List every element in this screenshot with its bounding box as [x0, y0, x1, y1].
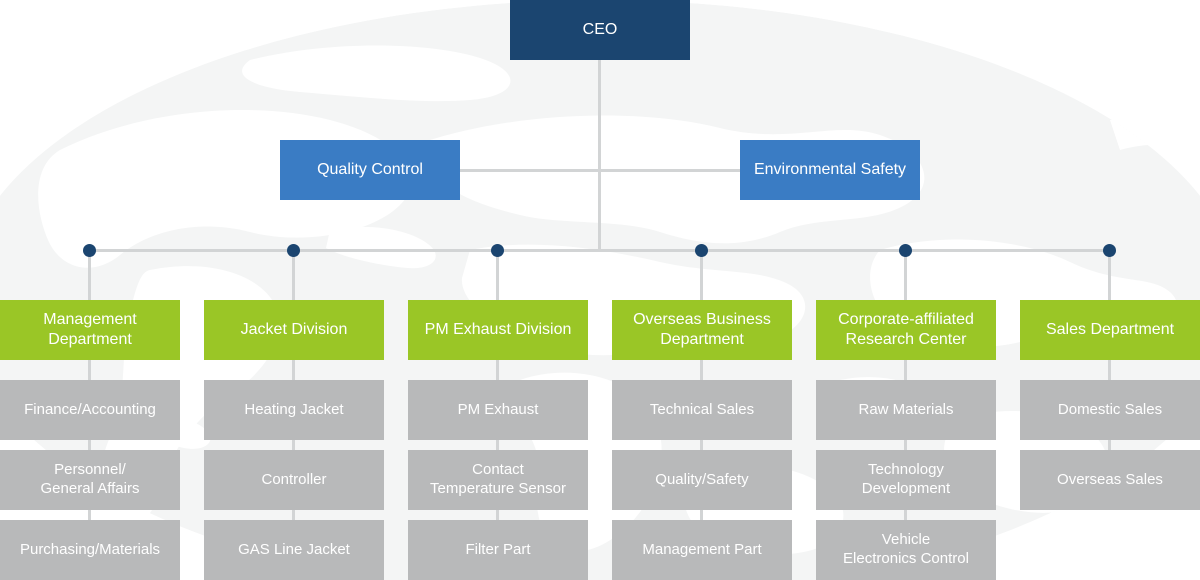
node-environmental-safety-label: Environmental Safety	[754, 160, 906, 180]
node-finance-accounting[interactable]: Finance/Accounting	[0, 380, 180, 440]
node-heating-jacket[interactable]: Heating Jacket	[204, 380, 384, 440]
node-technical-sales[interactable]: Technical Sales	[612, 380, 792, 440]
node-jacket-division[interactable]: Jacket Division	[204, 300, 384, 360]
node-vehicle-electronics-control[interactable]: Vehicle Electronics Control	[816, 520, 996, 580]
node-personnel-general-affairs-label: Personnel/ General Affairs	[41, 461, 140, 499]
connector-drop-management-department	[88, 250, 91, 300]
node-environmental-safety[interactable]: Environmental Safety	[740, 140, 920, 200]
node-pm-exhaust[interactable]: PM Exhaust	[408, 380, 588, 440]
node-gas-line-jacket[interactable]: GAS Line Jacket	[204, 520, 384, 580]
connector-drop-pm-exhaust-division	[496, 250, 499, 300]
node-domestic-sales-label: Domestic Sales	[1058, 401, 1162, 420]
node-quality-safety[interactable]: Quality/Safety	[612, 450, 792, 510]
node-dot-jacket-division	[287, 244, 300, 257]
node-dot-sales-department	[1103, 244, 1116, 257]
node-heating-jacket-label: Heating Jacket	[244, 401, 343, 420]
node-management-part[interactable]: Management Part	[612, 520, 792, 580]
node-management-part-label: Management Part	[642, 541, 761, 560]
node-quality-safety-label: Quality/Safety	[655, 471, 748, 490]
node-ceo[interactable]: CEO	[510, 0, 690, 60]
node-quality-control[interactable]: Quality Control	[280, 140, 460, 200]
node-contact-temperature-sensor-label: Contact Temperature Sensor	[430, 461, 566, 499]
node-gas-line-jacket-label: GAS Line Jacket	[238, 541, 350, 560]
node-overseas-business-department-label: Overseas Business Department	[633, 310, 771, 350]
connector-drop-corporate-affiliated-research-center	[904, 250, 907, 300]
node-dot-pm-exhaust-division	[491, 244, 504, 257]
connector-quality-control	[460, 169, 600, 172]
node-jacket-division-label: Jacket Division	[241, 320, 348, 340]
node-vehicle-electronics-control-label: Vehicle Electronics Control	[843, 531, 969, 569]
node-filter-part[interactable]: Filter Part	[408, 520, 588, 580]
node-ceo-label: CEO	[583, 20, 618, 40]
org-chart: CEO Quality Control Environmental Safety…	[0, 0, 1200, 580]
node-contact-temperature-sensor[interactable]: Contact Temperature Sensor	[408, 450, 588, 510]
node-overseas-business-department[interactable]: Overseas Business Department	[612, 300, 792, 360]
node-technical-sales-label: Technical Sales	[650, 401, 754, 420]
node-corporate-affiliated-research-center[interactable]: Corporate-affiliated Research Center	[816, 300, 996, 360]
node-personnel-general-affairs[interactable]: Personnel/ General Affairs	[0, 450, 180, 510]
node-dot-management-department	[83, 244, 96, 257]
node-raw-materials-label: Raw Materials	[858, 401, 953, 420]
node-management-department-label: Management Department	[43, 310, 136, 350]
connector-drop-sales-department	[1108, 250, 1111, 300]
node-pm-exhaust-division[interactable]: PM Exhaust Division	[408, 300, 588, 360]
node-purchasing-materials[interactable]: Purchasing/Materials	[0, 520, 180, 580]
node-pm-exhaust-division-label: PM Exhaust Division	[425, 320, 572, 340]
node-controller-label: Controller	[261, 471, 326, 490]
connector-department-backbone	[90, 249, 1111, 252]
node-purchasing-materials-label: Purchasing/Materials	[20, 541, 160, 560]
connector-drop-jacket-division	[292, 250, 295, 300]
node-sales-department-label: Sales Department	[1046, 320, 1174, 340]
node-dot-corporate-affiliated-research-center	[899, 244, 912, 257]
node-filter-part-label: Filter Part	[465, 541, 530, 560]
connector-ceo-trunk	[598, 60, 601, 250]
node-quality-control-label: Quality Control	[317, 160, 423, 180]
node-technology-development[interactable]: Technology Development	[816, 450, 996, 510]
node-pm-exhaust-label: PM Exhaust	[458, 401, 539, 420]
node-finance-accounting-label: Finance/Accounting	[24, 401, 156, 420]
node-overseas-sales-label: Overseas Sales	[1057, 471, 1163, 490]
node-sales-department[interactable]: Sales Department	[1020, 300, 1200, 360]
node-overseas-sales[interactable]: Overseas Sales	[1020, 450, 1200, 510]
connector-drop-overseas-business-department	[700, 250, 703, 300]
node-technology-development-label: Technology Development	[862, 461, 950, 499]
node-controller[interactable]: Controller	[204, 450, 384, 510]
node-raw-materials[interactable]: Raw Materials	[816, 380, 996, 440]
node-dot-overseas-business-department	[695, 244, 708, 257]
connector-environmental-safety	[600, 169, 740, 172]
node-domestic-sales[interactable]: Domestic Sales	[1020, 380, 1200, 440]
node-corporate-affiliated-research-center-label: Corporate-affiliated Research Center	[838, 310, 974, 350]
node-management-department[interactable]: Management Department	[0, 300, 180, 360]
